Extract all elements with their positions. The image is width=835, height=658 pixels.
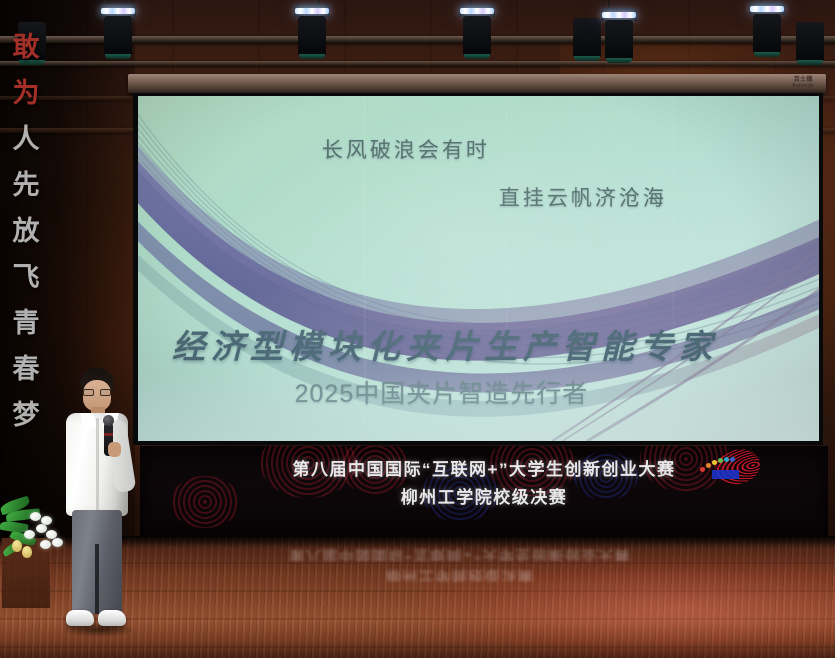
- light-body: [104, 16, 132, 56]
- vbanner-char-6: 青: [0, 300, 52, 346]
- light-body: [605, 20, 633, 60]
- light-body: [753, 14, 781, 54]
- vertical-side-banner: 敢 为 人 先 放 飞 青 春 梦: [0, 24, 52, 524]
- presenter-hand: [108, 442, 121, 457]
- light-led-strip-icon: [602, 12, 636, 18]
- floor-banner-reflection: 柳州工学院校级决赛 第八届中国国际“互联网+”大学生创新创业大赛: [150, 544, 770, 585]
- slide-poem-line-2: 直挂云帆济沧海: [499, 182, 667, 212]
- flower-petal: [30, 512, 41, 521]
- vbanner-char-3: 先: [0, 162, 52, 208]
- led-banner: 第八届中国国际“互联网+”大学生创新创业大赛 柳州工学院校级决赛: [140, 446, 828, 536]
- light-body: [796, 22, 824, 62]
- stage-photo-scene: 百士德 Baishide: [0, 0, 835, 658]
- light-body: [298, 16, 326, 56]
- presenter-leg-gap: [95, 544, 99, 614]
- led-banner-line-2: 柳州工学院校级决赛: [140, 484, 828, 512]
- light-lens: [797, 60, 823, 65]
- slide-subtitle: 2025中国夹片智造先行者: [295, 379, 622, 410]
- presenter-shoe-right: [98, 610, 126, 626]
- microphone-head: [103, 415, 114, 426]
- flower-petal: [40, 540, 51, 549]
- slide-title: 经济型模块化夹片生产智能专家: [172, 320, 799, 368]
- screen-brand-label: 百士德 Baishide: [792, 77, 814, 89]
- vbanner-char-4: 放: [0, 208, 52, 254]
- light-body: [463, 16, 491, 56]
- flower-petal: [24, 530, 35, 539]
- vbanner-char-0: 敢: [0, 24, 52, 70]
- vbanner-char-2: 人: [0, 116, 52, 162]
- light-lens: [299, 54, 325, 59]
- light-lens: [606, 58, 632, 63]
- slide-poem-line-1: 长风破浪会有时: [322, 134, 490, 164]
- flower-bud: [22, 546, 32, 558]
- reflection-line-1: 柳州工学院校级决赛: [386, 567, 535, 581]
- projector-screen-housing: 百士德 Baishide: [128, 74, 826, 93]
- lighting-truss-second: [0, 61, 835, 66]
- reflection-line-2: 第八届中国国际“互联网+”大学生创新创业大赛: [289, 547, 631, 561]
- glasses-icon: [83, 389, 111, 396]
- vbanner-char-8: 梦: [0, 392, 52, 438]
- light-lens: [105, 54, 131, 59]
- vbanner-char-1: 为: [0, 70, 52, 116]
- light-led-strip-icon: [750, 6, 784, 12]
- stage-light-3: [290, 4, 334, 60]
- vbanner-char-5: 飞: [0, 254, 52, 300]
- stage-light-10: [788, 10, 832, 66]
- flower-petal: [36, 524, 47, 533]
- led-banner-text: 第八届中国国际“互联网+”大学生创新创业大赛 柳州工学院校级决赛: [140, 456, 828, 512]
- vbanner-char-7: 春: [0, 346, 52, 392]
- flower-bud: [12, 540, 22, 552]
- light-led-strip-icon: [101, 8, 135, 14]
- stage-light-8: [597, 8, 641, 64]
- presenter: [58, 368, 140, 648]
- stage-light-7: [455, 4, 499, 60]
- light-led-strip-icon: [295, 8, 329, 14]
- projection-screen: 长风破浪会有时 直挂云帆济沧海 经济型模块化夹片生产智能专家 2025中国夹片智…: [138, 96, 819, 441]
- microphone-band: [104, 433, 113, 436]
- presenter-shoe-left: [66, 610, 94, 626]
- stage-light-1: [96, 4, 140, 60]
- led-banner-line-1: 第八届中国国际“互联网+”大学生创新创业大赛: [293, 460, 676, 479]
- presenter-shirt-placket: [96, 418, 99, 514]
- projection-screen-frame: 长风破浪会有时 直挂云帆济沧海 经济型模块化夹片生产智能专家 2025中国夹片智…: [133, 93, 823, 445]
- light-lens: [464, 54, 490, 59]
- light-led-strip-icon: [460, 8, 494, 14]
- stage-light-9: [745, 2, 789, 58]
- screen-brand-sub: Baishide: [792, 83, 814, 89]
- light-lens: [754, 52, 780, 57]
